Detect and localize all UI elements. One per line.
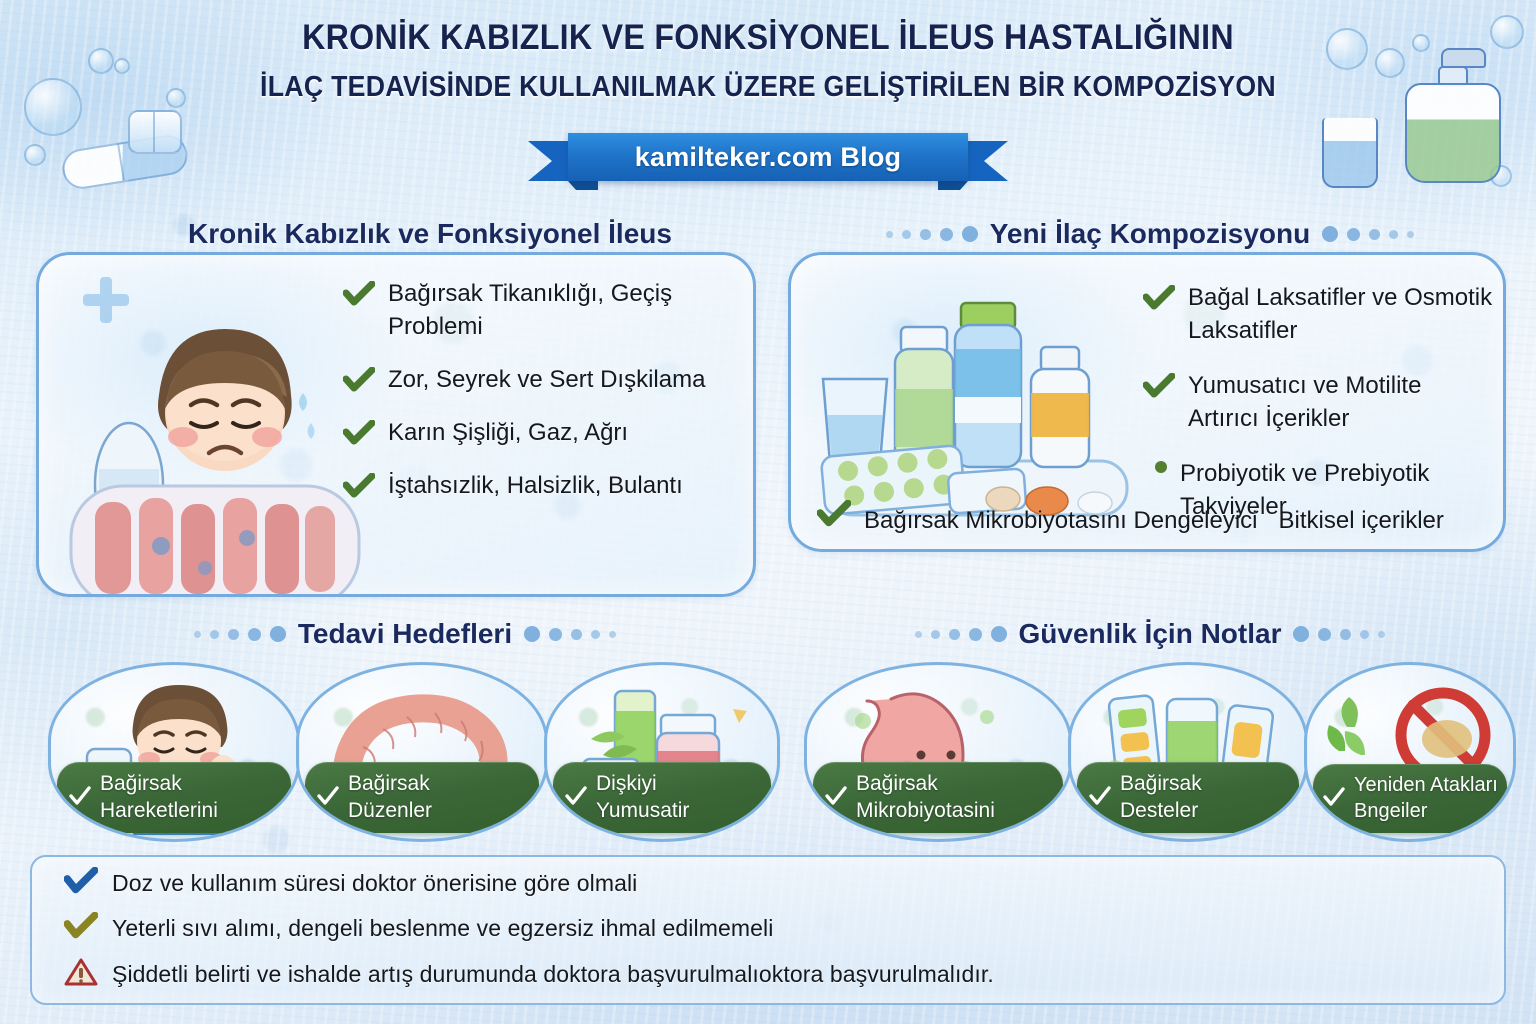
- safety-badge-1: Bağirsak Mikrobiyotasini: [813, 762, 1063, 833]
- goal-card-3[interactable]: Dişkiyi Yumusatir: [544, 662, 780, 842]
- page-title-block: KRONİK KABIZLIK VE FONKSİYONEL İLEUS HAS…: [0, 16, 1536, 108]
- safety-card-2[interactable]: Bağirsak Desteler: [1068, 662, 1308, 842]
- medicine-bottles-illustration: [809, 275, 1159, 535]
- footer-note-1: Doz ve kullanım süresi doktor önerisine …: [64, 867, 637, 900]
- check-blue-icon: [64, 867, 98, 900]
- safety-badge-2: Bağirsak Desteler: [1077, 762, 1299, 833]
- safety-card-1[interactable]: Bağirsak Mikrobiyotasini: [804, 662, 1072, 842]
- bubble-icon: [24, 144, 46, 166]
- heading-dots-left: [915, 626, 1007, 642]
- section-title-composition: Yeni İlaç Kompozisyonu: [990, 218, 1311, 250]
- safety-badge-label-2: Bağirsak Desteler: [1120, 770, 1202, 824]
- sad-child-illustration: [63, 273, 363, 593]
- card-composition: Bağal Laksatifler ve Osmotik Laksatifler…: [788, 252, 1506, 552]
- footer-note-3: Şiddetli belirti ve ishalde artış durumu…: [64, 957, 994, 992]
- blog-ribbon-banner[interactable]: kamilteker.com Blog: [528, 133, 1008, 189]
- check-white-icon: [316, 785, 340, 812]
- check-green-icon: [1143, 373, 1175, 399]
- goal-badge-1: Bağirsak Hareketlerini: [57, 762, 291, 833]
- card-symptoms: Bağırsak Tikanıklığı, Geçiş Problemi Zor…: [36, 252, 756, 597]
- section-heading-symptoms: Kronik Kabızlık ve Fonksiyonel İleus: [120, 218, 740, 250]
- composition-highlight-item: Bağırsak Mikrobiyotasını Dengeleyici Bit…: [817, 500, 1444, 537]
- heading-dots-left: [194, 626, 286, 642]
- heading-dots-right: [1322, 226, 1414, 242]
- list-item-label: Bağırsak Tikanıklığı, Geçiş Problemi: [388, 277, 738, 343]
- list-item: Karın Şişliği, Gaz, Ağrı: [343, 416, 738, 449]
- ribbon-fold-left: [568, 181, 598, 190]
- list-item-label: Karın Şişliği, Gaz, Ağrı: [388, 416, 628, 449]
- check-olive-icon: [64, 912, 98, 945]
- list-item-label: İştahsızlik, Halsizlik, Bulantı: [388, 469, 683, 502]
- section-heading-composition: Yeni İlaç Kompozisyonu: [800, 218, 1500, 250]
- medical-cross-icon: [83, 277, 129, 323]
- infographic-page: KRONİK KABIZLIK VE FONKSİYONEL İLEUS HAS…: [0, 0, 1536, 1024]
- check-white-icon: [824, 785, 848, 812]
- goal-badge-2: Bağirsak Düzenler: [305, 762, 539, 833]
- water-glass-icon: [1322, 118, 1378, 188]
- check-white-icon: [68, 785, 92, 812]
- heading-dots-right: [524, 626, 616, 642]
- ribbon-body: kamilteker.com Blog: [568, 133, 968, 181]
- heading-dots-left: [886, 226, 978, 242]
- check-green-icon: [817, 500, 851, 528]
- check-white-icon: [1322, 786, 1346, 813]
- check-white-icon: [564, 785, 588, 812]
- footer-note-2: Yeterli sıvı alımı, dengeli beslenme ve …: [64, 912, 773, 945]
- dot-green-icon: [1155, 461, 1167, 473]
- heading-dots-right: [1293, 626, 1385, 642]
- page-title-line-2: İLAÇ TEDAVİSİNDE KULLANILMAK ÜZERE GELİŞ…: [61, 66, 1474, 108]
- safety-card-3[interactable]: Yeniden Atakları Bngeiler: [1304, 662, 1516, 842]
- check-green-icon: [343, 473, 375, 499]
- footer-note-label-3: Şiddetli belirti ve ishalde artış durumu…: [112, 961, 994, 988]
- list-item: Bağal Laksatifler ve Osmotik Laksatifler: [1143, 281, 1493, 347]
- footer-note-label-2: Yeterli sıvı alımı, dengeli beslenme ve …: [112, 915, 773, 942]
- composition-highlight-sublabel: Bitkisel içerikler: [1279, 504, 1444, 537]
- goal-badge-label-2: Bağirsak Düzenler: [348, 770, 432, 824]
- composition-list: Bağal Laksatifler ve Osmotik Laksatifler…: [1143, 281, 1493, 523]
- check-green-icon: [343, 420, 375, 446]
- footer-notes-panel: Doz ve kullanım süresi doktor önerisine …: [30, 855, 1506, 1005]
- capsule-pill-icon: [128, 110, 182, 154]
- symptom-list: Bağırsak Tikanıklığı, Geçiş Problemi Zor…: [343, 277, 738, 502]
- goal-badge-label-3: Dişkiyi Yumusatir: [596, 770, 689, 824]
- safety-badge-label-3: Yeniden Atakları Bngeiler: [1354, 772, 1498, 824]
- section-title-goals: Tedavi Hedefleri: [298, 618, 512, 650]
- goal-badge-3: Dişkiyi Yumusatir: [553, 762, 771, 833]
- check-green-icon: [343, 367, 375, 393]
- list-item-label: Yumusatıcı ve Motilite Artırıcı İçerikle…: [1188, 369, 1493, 435]
- section-title-safety: Güvenlik İçin Notlar: [1019, 618, 1282, 650]
- list-item-label: Bağal Laksatifler ve Osmotik Laksatifler: [1188, 281, 1493, 347]
- list-item: Zor, Seyrek ve Sert Dışkilama: [343, 363, 738, 396]
- safety-badge-label-1: Bağirsak Mikrobiyotasini: [856, 770, 995, 824]
- capsule-pill-icon: [60, 132, 191, 191]
- check-green-icon: [343, 281, 375, 307]
- ribbon-fold-right: [938, 181, 968, 190]
- check-white-icon: [1088, 785, 1112, 812]
- goal-badge-label-1: Bağirsak Hareketlerini: [100, 770, 218, 824]
- ribbon-label: kamilteker.com Blog: [635, 142, 901, 173]
- warning-triangle-icon: [64, 957, 98, 992]
- bubble-icon: [1490, 165, 1512, 187]
- list-item: Bağırsak Tikanıklığı, Geçiş Problemi: [343, 277, 738, 343]
- composition-highlight-label: Bağırsak Mikrobiyotasını Dengeleyici: [864, 504, 1258, 537]
- safety-badge-3: Yeniden Atakları Bngeiler: [1313, 764, 1507, 833]
- list-item: Yumusatıcı ve Motilite Artırıcı İçerikle…: [1143, 369, 1493, 435]
- check-green-icon: [1143, 285, 1175, 311]
- page-title-line-1: KRONİK KABIZLIK VE FONKSİYONEL İLEUS HAS…: [61, 16, 1474, 60]
- section-title-symptoms: Kronik Kabızlık ve Fonksiyonel İleus: [188, 218, 672, 250]
- section-heading-goals: Tedavi Hedefleri: [40, 618, 770, 650]
- footer-note-label-1: Doz ve kullanım süresi doktor önerisine …: [112, 870, 637, 897]
- intestine-illustration: [65, 480, 365, 597]
- goal-card-2[interactable]: Bağirsak Düzenler: [296, 662, 548, 842]
- section-heading-safety: Güvenlik İçin Notlar: [790, 618, 1510, 650]
- goal-card-1[interactable]: Bağirsak Hareketlerini: [48, 662, 300, 842]
- list-item-label: Zor, Seyrek ve Sert Dışkilama: [388, 363, 705, 396]
- list-item: İştahsızlik, Halsizlik, Bulantı: [343, 469, 738, 502]
